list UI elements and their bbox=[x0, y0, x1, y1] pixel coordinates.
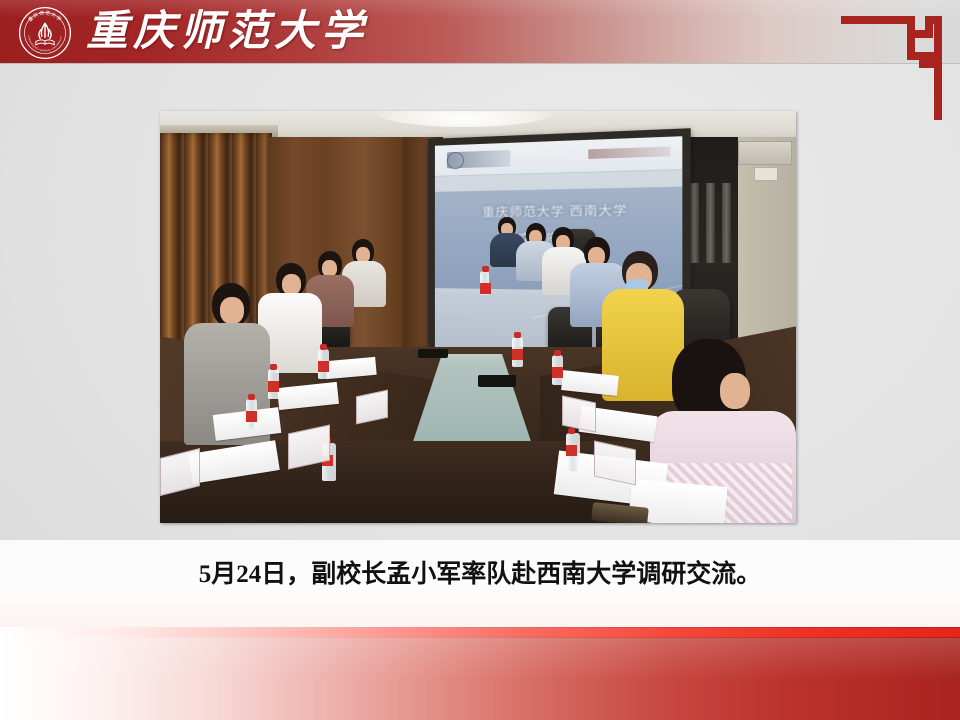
meeting-photo: 重庆师范大学 西南大学 交流座谈会 2022年5月24日 bbox=[160, 111, 796, 523]
photo-content: 重庆师范大学 西南大学 交流座谈会 2022年5月24日 bbox=[160, 111, 796, 523]
page-title: 重庆师范大学 bbox=[86, 4, 368, 60]
projected-slide-title-line1: 重庆师范大学 西南大学 bbox=[435, 200, 682, 221]
tablet-device bbox=[478, 375, 516, 387]
footer-accent-stripe bbox=[0, 628, 960, 637]
door-slat bbox=[706, 183, 715, 263]
presentation-slide: 重庆师范大学 CHONGQING NORMAL UNIVERSITY 重庆师范大… bbox=[0, 0, 960, 720]
water-bottle bbox=[268, 369, 279, 399]
wall-socket bbox=[754, 167, 778, 181]
university-seal-emblem: 重庆师范大学 CHONGQING NORMAL UNIVERSITY bbox=[18, 6, 72, 60]
door-slat bbox=[722, 183, 731, 263]
door-slat bbox=[690, 183, 699, 263]
water-bottle bbox=[566, 433, 580, 471]
water-bottle bbox=[246, 399, 257, 429]
tablet-device bbox=[418, 349, 448, 358]
photo-caption: 5月24日，副校长孟小军率队赴西南大学调研交流。 bbox=[0, 554, 960, 590]
footer-gradient-band bbox=[0, 627, 960, 720]
water-bottle bbox=[480, 271, 489, 295]
chinese-key-pattern-corner-icon bbox=[841, 8, 946, 120]
water-bottle bbox=[552, 355, 563, 385]
caption-area: 5月24日，副校长孟小军率队赴西南大学调研交流。 bbox=[0, 540, 960, 627]
wall-air-vent bbox=[738, 141, 792, 165]
water-bottle bbox=[512, 337, 523, 367]
water-bottle bbox=[318, 349, 329, 379]
